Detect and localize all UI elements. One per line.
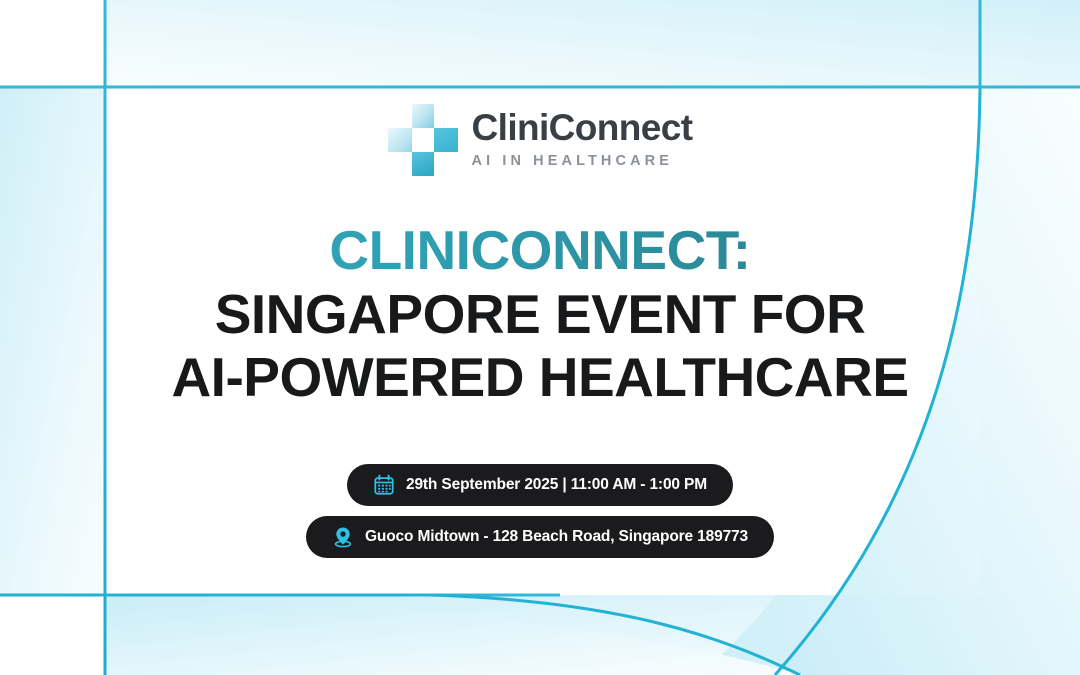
headline-block: CLINICONNECT: SINGAPORE EVENT FOR AI-POW… [0,219,1080,410]
event-banner: CliniConnect AI IN HEALTHCARE CLINICONNE… [0,0,1080,675]
logo-wordmark: CliniConnect [472,109,693,147]
logo-tagline: AI IN HEALTHCARE [472,154,693,169]
date-time-text: 29th September 2025 | 11:00 AM - 1:00 PM [406,477,707,493]
date-time-pill: 29th September 2025 | 11:00 AM - 1:00 PM [347,464,733,506]
venue-text: Guoco Midtown - 128 Beach Road, Singapor… [365,529,748,545]
headline-line-1: CLINICONNECT: [0,219,1080,283]
location-pin-icon [332,526,354,548]
logo-text-block: CliniConnect AI IN HEALTHCARE [472,109,693,170]
calendar-icon [373,474,395,496]
headline-line-3: AI-POWERED HEALTHCARE [0,346,1080,410]
venue-pill: Guoco Midtown - 128 Beach Road, Singapor… [306,516,774,558]
headline-line-2: SINGAPORE EVENT FOR [0,283,1080,347]
medical-cross-icon [388,104,458,176]
logo-lockup: CliniConnect AI IN HEALTHCARE [0,104,1080,176]
event-details: 29th September 2025 | 11:00 AM - 1:00 PM… [0,464,1080,558]
